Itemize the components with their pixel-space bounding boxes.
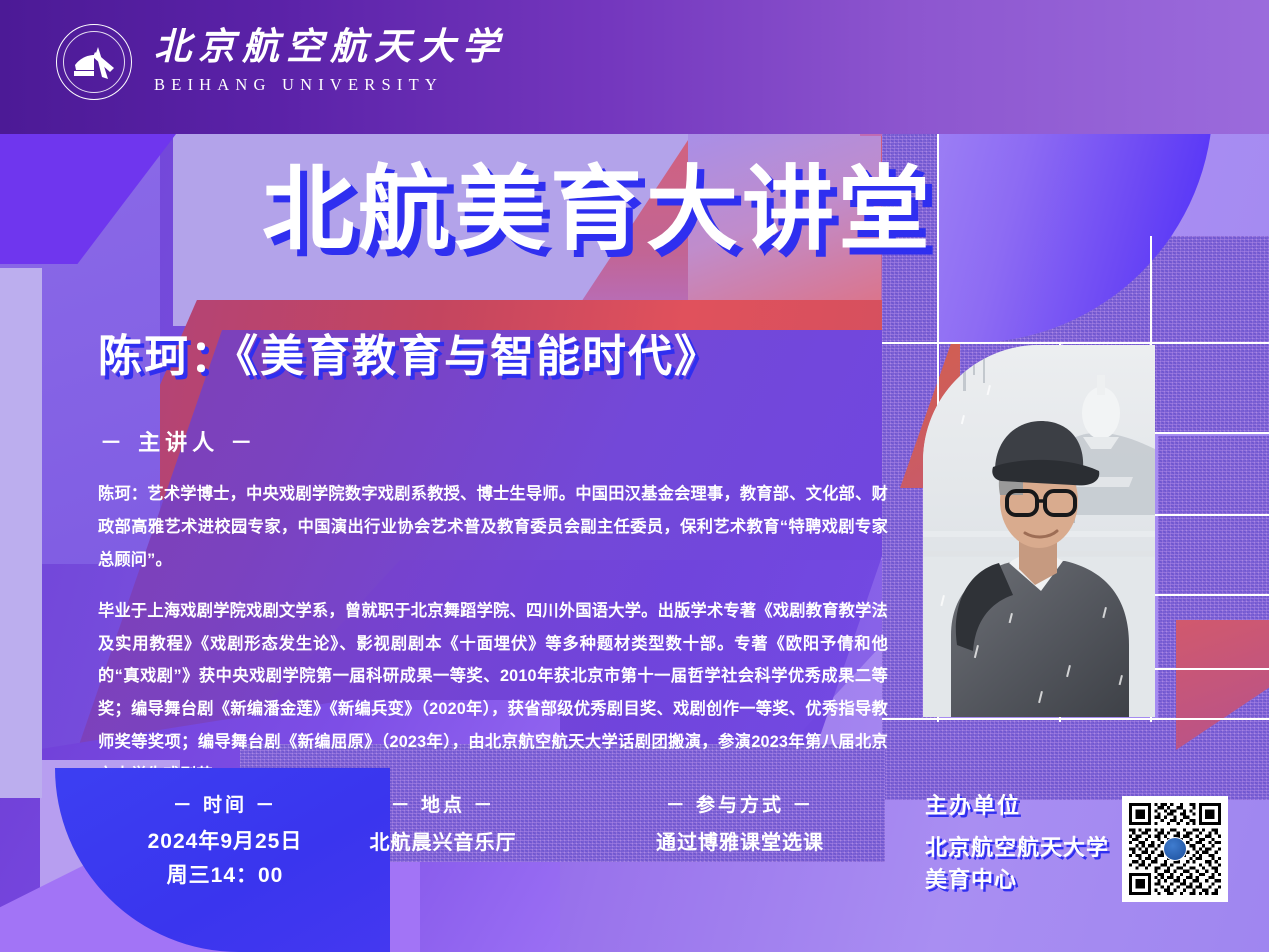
university-name-en: BEIHANG UNIVERSITY — [154, 75, 506, 95]
info-join-value: 通过博雅课堂选课 — [590, 826, 890, 855]
grid-divider — [1150, 668, 1269, 670]
grid-divider — [1150, 514, 1269, 516]
speaker-bio: 陈珂：艺术学博士，中央戏剧学院数字戏剧系教授、博士生导师。中国田汉基金会理事，教… — [98, 478, 888, 792]
grid-divider — [882, 718, 1269, 720]
qr-code-icon[interactable] — [1122, 796, 1228, 902]
left-pale-strip — [0, 268, 42, 798]
portrait-illustration — [923, 345, 1155, 717]
poster-canvas: 北京航空航天大学 BEIHANG UNIVERSITY 北航美育大讲堂 陈珂：《… — [0, 0, 1269, 952]
speaker-bio-paragraph: 陈珂：艺术学博士，中央戏剧学院数字戏剧系教授、博士生导师。中国田汉基金会理事，教… — [98, 478, 888, 577]
grid-tile — [1158, 436, 1269, 514]
seal-emblem-icon — [72, 43, 116, 81]
organizer-head: 主办单位 — [925, 788, 1109, 820]
speaker-portrait-photo — [923, 345, 1155, 717]
speaker-bio-paragraph: 毕业于上海戏剧学院戏剧文学系，曾就职于北京舞蹈学院、四川外国语大学。出版学术专著… — [98, 595, 888, 792]
beihang-seal-icon — [56, 24, 132, 100]
info-time-clock: 周三14：00 — [80, 859, 370, 889]
page-title: 北航美育大讲堂 — [262, 162, 934, 259]
university-name-cn: 北京航空航天大学 — [154, 29, 506, 68]
qr-code-canvas — [1129, 803, 1221, 895]
info-head-place: － 地点 － — [318, 790, 568, 817]
grid-divider — [882, 342, 1269, 344]
grid-divider — [937, 100, 939, 344]
grid-tile — [1158, 516, 1269, 594]
grid-tile — [1152, 344, 1269, 434]
speaker-section-label: － 主讲人 － — [100, 425, 257, 457]
info-head-join: － 参与方式 － — [590, 790, 890, 817]
info-block-join: － 参与方式 － 通过博雅课堂选课 — [590, 790, 890, 855]
info-place-value: 北航晨兴音乐厅 — [318, 826, 568, 855]
organizer-line1: 北京航空航天大学 — [925, 833, 1109, 863]
info-block-place: － 地点 － 北航晨兴音乐厅 — [318, 790, 568, 855]
university-logo: 北京航空航天大学 BEIHANG UNIVERSITY — [56, 24, 506, 100]
beihang-round-logo-icon — [1163, 837, 1187, 861]
organizer-line2: 美育中心 — [925, 865, 1109, 895]
organizer-block: 主办单位 北京航空航天大学 美育中心 — [925, 788, 1109, 894]
grid-divider — [1150, 594, 1269, 596]
page-subtitle: 陈珂：《美育教育与智能时代》 — [98, 320, 720, 384]
